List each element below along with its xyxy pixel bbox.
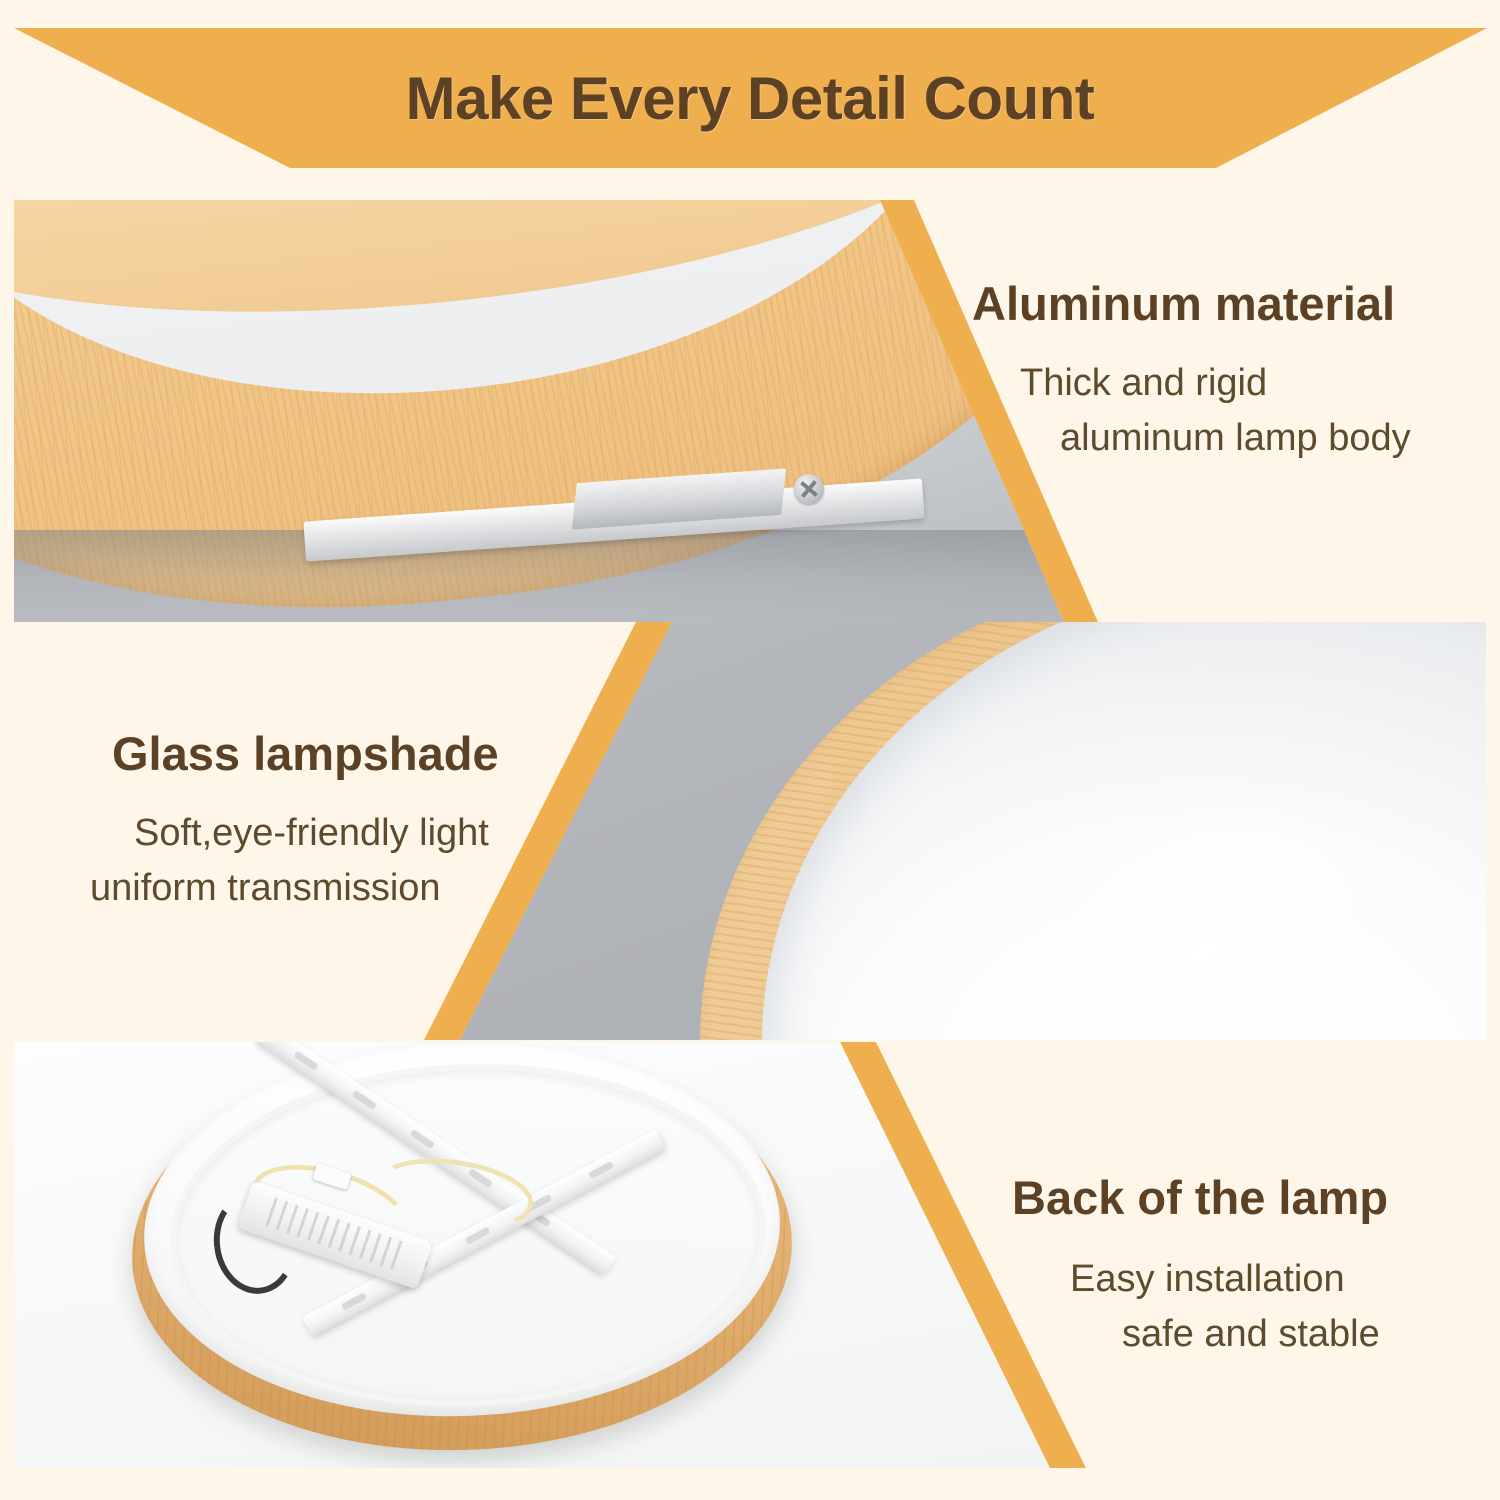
lampshade-body: Soft,eye-friendly light uniform transmis… [112,806,499,916]
lampshade-body-line-2: uniform transmission [90,861,499,916]
page-title: Make Every Detail Count [0,28,1500,168]
lampshade-heading: Glass lampshade [112,728,499,780]
bracket-slot [293,1051,318,1071]
bracket-slot [341,1292,367,1310]
back-body: Easy installation safe and stable [1012,1252,1388,1362]
back-body-line-2: safe and stable [1122,1307,1388,1362]
back-body-line-1: Easy installation [1070,1252,1388,1307]
back-heading: Back of the lamp [1012,1172,1388,1224]
aluminum-heading: Aluminum material [972,278,1411,330]
bracket-slot [351,1090,376,1110]
back-text-block: Back of the lamp Easy installation safe … [1012,1172,1388,1362]
lampshade-body-line-1: Soft,eye-friendly light [134,806,499,861]
aluminum-text-block: Aluminum material Thick and rigid alumin… [972,278,1411,466]
bracket-slot [588,1161,614,1179]
screw-icon [794,474,824,504]
aluminum-photo [14,200,1064,622]
infographic-stage: Make Every Detail Count Aluminum materia… [0,0,1500,1500]
lampshade-text-block: Glass lampshade Soft,eye-friendly light … [112,728,499,916]
aluminum-body: Thick and rigid aluminum lamp body [972,356,1411,466]
aluminum-body-line-2: aluminum lamp body [1060,411,1411,466]
bracket-slot [409,1129,434,1149]
aluminum-body-line-1: Thick and rigid [1020,356,1411,411]
